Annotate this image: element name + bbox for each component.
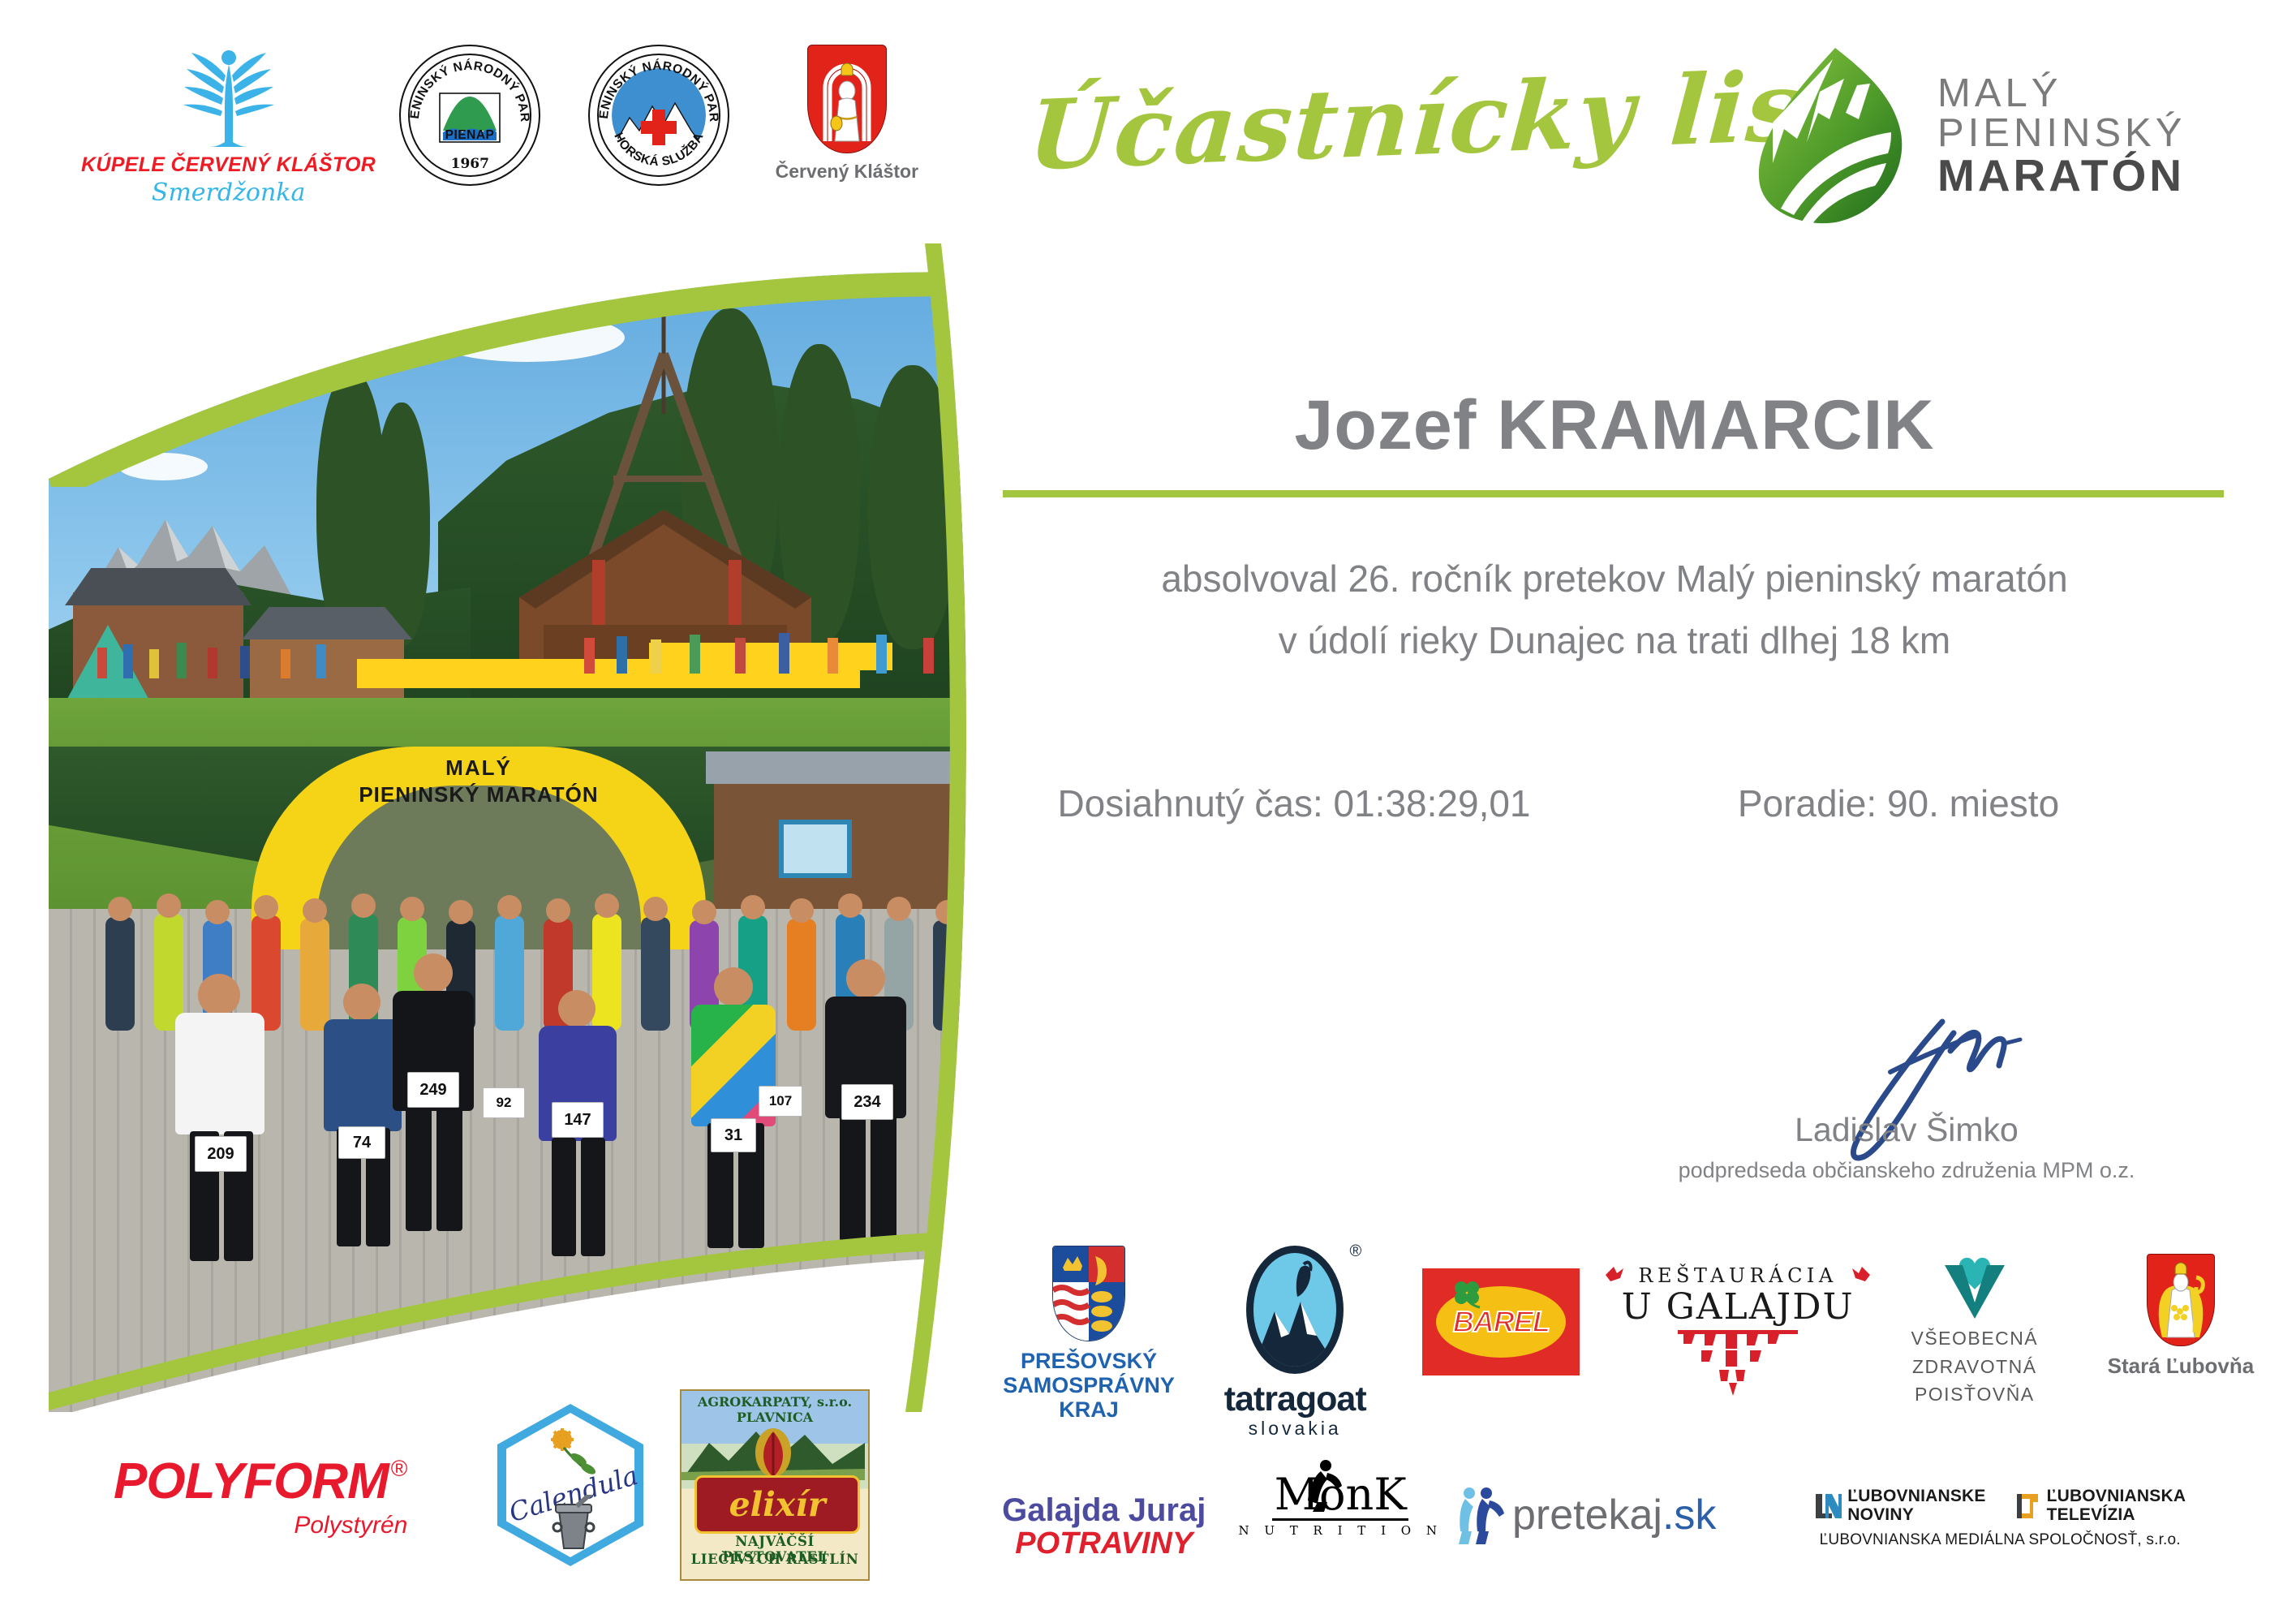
- achieved-time: Dosiahnutý čas: 01:38:29,01: [1010, 781, 1578, 825]
- sponsor-label: PREŠOVSKÝ SAMOSPRÁVNY KRAJ: [1003, 1349, 1175, 1423]
- bib-number: 92: [483, 1087, 525, 1118]
- sponsor-logo-vseobecna-zdravotna-poistovna: VŠEOBECNÁ ZDRAVOTNÁ POISŤOVŇA: [1872, 1246, 2078, 1409]
- sponsor-logo-agrokarpaty-elixir: AGROKARPATY, s.r.o. PLAVNICA elixír NAJV…: [680, 1389, 870, 1581]
- logo-word-line1: MALÝ: [1937, 74, 2186, 114]
- elixir-wordmark: elixír: [697, 1478, 858, 1531]
- logo-word-line2: PIENINSKÝ: [1937, 114, 2186, 153]
- signature-block: Ladislav Šimko podpredseda občianskeho z…: [1647, 1010, 2166, 1205]
- folk-ornament-icon: [1847, 1264, 1872, 1288]
- lt-mark-icon: [2014, 1492, 2041, 1520]
- pretekaj-wordmark: pretekaj: [1512, 1492, 1662, 1539]
- galajda-line2: POTRAVINY: [1015, 1526, 1193, 1561]
- green-swoosh-right: [844, 243, 990, 1412]
- running-monk-icon: [1300, 1458, 1348, 1512]
- achieved-rank: Poradie: 90. miesto: [1647, 781, 2150, 825]
- certificate-body-line1: absolvoval 26. ročník pretekov Malý pien…: [1006, 557, 2223, 601]
- sponsor-logo-pretekaj-sk: pretekaj.sk: [1459, 1473, 1716, 1544]
- polyform-subtitle: Polystyrén: [114, 1512, 407, 1539]
- folk-ornament-icon: [1677, 1334, 1799, 1396]
- crest-monk-icon: [807, 45, 887, 153]
- sponsor-label-line2: Smerdžonka: [152, 179, 306, 207]
- sponsor-logo-horska-sluzba: PIENINSKÝ NÁRODNÝ PARK HORSKÁ SLUŽBA: [564, 45, 752, 186]
- ln-line1: ĽUBOVNIANSKE: [1847, 1487, 1985, 1506]
- media-company-label: ĽUBOVNIANSKA MEDIÁLNA SPOLOČNOSŤ, s.r.o.: [1820, 1531, 2181, 1549]
- circular-seal-icon: PIENINSKÝ NÁRODNÝ PARK HORSKÁ SLUŽBA: [588, 45, 729, 186]
- registered-mark-icon: ®: [1349, 1242, 1361, 1261]
- signatory-name: Ladislav Šimko: [1647, 1111, 2166, 1149]
- svg-text:PIENAP: PIENAP: [445, 128, 495, 142]
- bib-number: 249: [407, 1072, 459, 1108]
- bib-number: 147: [552, 1102, 604, 1138]
- top-sponsor-strip: KÚPELE ČERVENÝ KLÁŠTOR Smerdžonka PIENIN…: [81, 45, 941, 231]
- sponsor-logo-galajda-juraj: Galajda Juraj POTRAVINY: [986, 1473, 1222, 1561]
- goat-mountain-oval-icon: [1246, 1246, 1344, 1374]
- two-runners-icon: [1459, 1486, 1504, 1544]
- sponsor-logo-lubovnianske-noviny: ĽUBOVNIANSKE NOVINY: [1814, 1487, 1985, 1524]
- page-title: Účastnícky list: [1025, 48, 1852, 192]
- ln-mark-icon: [1814, 1492, 1842, 1520]
- galajda-line1: Galajda Juraj: [1002, 1492, 1206, 1529]
- arch-label-line1: MALÝ: [252, 755, 706, 781]
- seal-year: 1967: [401, 156, 539, 172]
- certificate-body-line2: v údolí rieky Dunajec na trati dlhej 18 …: [1006, 618, 2223, 662]
- sponsor-logo-lubovnianske-media: ĽUBOVNIANSKE NOVINY ĽUBOVNIANSKA TELEVÍZ…: [1716, 1473, 2284, 1549]
- sponsor-label-line1: KÚPELE ČERVENÝ KLÁŠTOR: [81, 153, 376, 177]
- mountain-leaf-icon: [1748, 41, 1923, 230]
- bib-number: 107: [759, 1086, 802, 1117]
- polyform-wordmark: POLYFORM: [114, 1453, 389, 1510]
- sponsor-logo-presovsky-samospravny-kraj: PREŠOVSKÝ SAMOSPRÁVNY KRAJ: [986, 1246, 1192, 1423]
- ln-line2: NOVINY: [1847, 1506, 1985, 1525]
- sponsor-logo-u-galajdu: REŠTAURÁCIA U GALAJDU: [1604, 1246, 1871, 1396]
- arch-label-line2: PIENINSKÝ MARATÓN: [252, 781, 706, 808]
- lt-line2: TELEVÍZIA: [2047, 1506, 2186, 1525]
- sponsor-logo-smerdzonka: KÚPELE ČERVENÝ KLÁŠTOR Smerdžonka: [81, 45, 376, 207]
- sponsor-row-2: Galajda Juraj POTRAVINY MonK N U T R I T…: [986, 1473, 2284, 1611]
- monk-subtitle: N U T R I T I O N: [1238, 1523, 1443, 1538]
- restaurant-prefix: REŠTAURÁCIA: [1638, 1264, 1837, 1287]
- quartered-shield-icon: [1052, 1246, 1125, 1341]
- sponsor-label: VŠEOBECNÁ ZDRAVOTNÁ POISŤOVŇA: [1911, 1324, 2038, 1409]
- svg-text:PIENINSKÝ NÁRODNÝ PARK: PIENINSKÝ NÁRODNÝ PARK: [590, 46, 720, 123]
- mortar-and-pestle-icon: [548, 1495, 600, 1555]
- restaurant-wordmark: U GALAJDU: [1622, 1286, 1855, 1328]
- logo-word-line3: MARATÓN: [1937, 153, 2186, 198]
- sponsor-logo-polyform: POLYFORM ® Polystyrén: [114, 1453, 407, 1539]
- pretekaj-tld: .sk: [1662, 1492, 1716, 1539]
- elixir-bottom-line2: LIEČIVÝCH RASTLÍN: [681, 1552, 868, 1567]
- sponsor-label: Stará Ľubovňa: [2108, 1354, 2255, 1379]
- sponsor-row-1: PREŠOVSKÝ SAMOSPRÁVNY KRAJ ®: [986, 1246, 2284, 1457]
- registered-mark-icon: ®: [391, 1456, 408, 1482]
- bishop-crest-icon: [2147, 1254, 2215, 1346]
- circular-seal-icon: PIENINSKÝ NÁRODNÝ PARK PIENAP 1967: [399, 45, 540, 186]
- svg-text:PIENINSKÝ NÁRODNÝ PARK: PIENINSKÝ NÁRODNÝ PARK: [401, 46, 531, 123]
- tatragoat-wordmark: tatragoat: [1224, 1380, 1366, 1419]
- mpm-logo: MALÝ PIENINSKÝ MARATÓN: [1748, 42, 2284, 229]
- bib-number: 74: [338, 1126, 385, 1159]
- signatory-role: podpredseda občianskeho združenia MPM o.…: [1647, 1158, 2166, 1183]
- sponsor-logo-barel: BAREL: [1398, 1246, 1604, 1375]
- sponsor-logo-cerveny-klastor: Červený Kláštor: [753, 45, 941, 183]
- tatragoat-subtitle: slovakia: [1249, 1418, 1342, 1440]
- bib-number: 31: [711, 1118, 756, 1152]
- sponsor-logo-pienap: PIENINSKÝ NÁRODNÝ PARK PIENAP 1967: [376, 45, 564, 186]
- sponsor-logo-tatragoat: ® tatragoat slovakia: [1192, 1246, 1398, 1440]
- recipient-name: Jozef KRAMARCIK: [1006, 385, 2223, 466]
- folk-ornament-icon: [1604, 1264, 1628, 1288]
- sponsor-logo-lubovnianska-televizia: ĽUBOVNIANSKA TELEVÍZIA: [2014, 1487, 2186, 1524]
- photo-collage: MALÝ PIENINSKÝ MARATÓN: [49, 243, 990, 1412]
- sponsor-label: Červený Kláštor: [776, 161, 918, 183]
- sponsor-logo-calendula: Calendula: [497, 1404, 643, 1566]
- clover-icon: [1451, 1278, 1483, 1311]
- svg-text:HORSKÁ SLUŽBA: HORSKÁ SLUŽBA: [611, 131, 706, 170]
- sponsor-logo-stara-lubovna: Stará Ľubovňa: [2078, 1246, 2284, 1379]
- chevron-heart-icon: [1940, 1252, 2010, 1319]
- water-angel-icon: [148, 45, 310, 150]
- sponsor-logo-monk-nutrition: MonK N U T R I T I O N: [1222, 1473, 1458, 1538]
- accent-divider: [1003, 490, 2224, 497]
- lt-line1: ĽUBOVNIANSKA: [2047, 1487, 2186, 1506]
